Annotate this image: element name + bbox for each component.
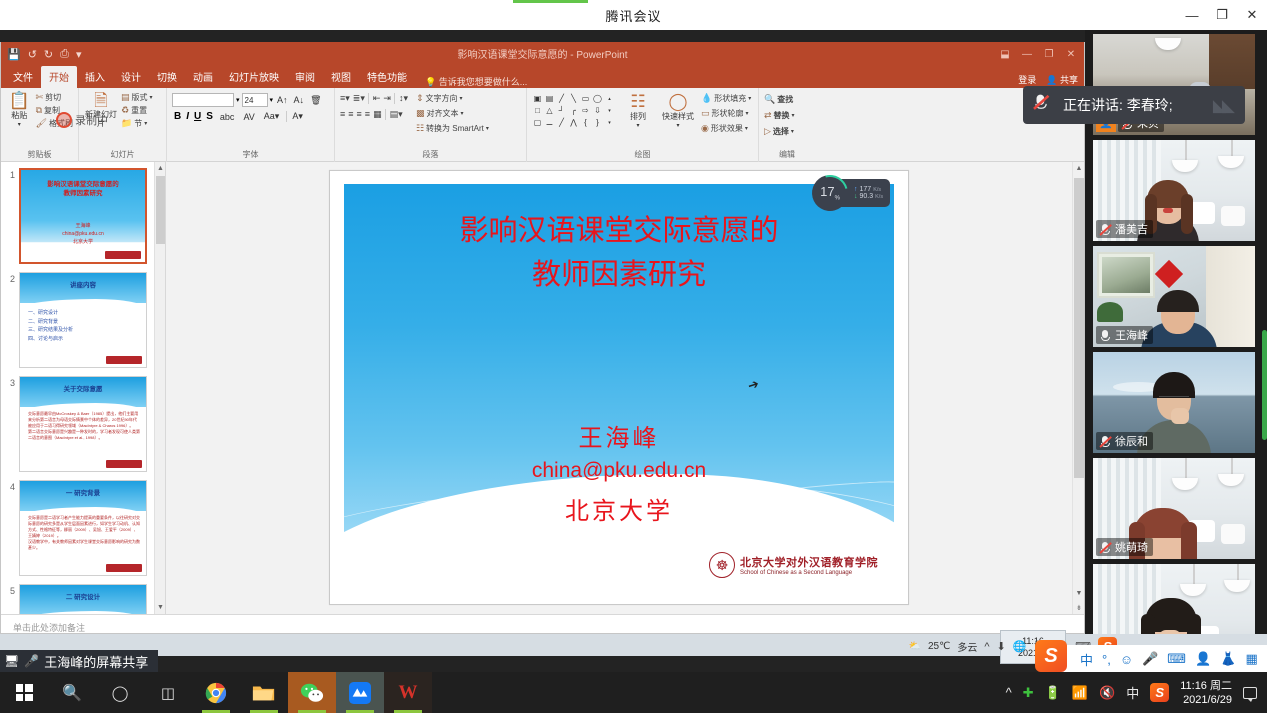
thumbnail-scrollbar[interactable]: ▲ ▼: [154, 162, 165, 614]
slide-thumbnail-2[interactable]: 2 讲座内容 一、研究设计 二、研究背景 三、研究结果及分析 四、讨论与启示: [5, 272, 165, 368]
download-speed: 90.3: [860, 193, 874, 200]
mic-muted-icon: [1033, 93, 1054, 116]
participant-name-row: 王海峰: [1096, 326, 1153, 344]
tencent-meeting-icon: [349, 682, 371, 704]
recording-badge: 录制中: [56, 112, 108, 128]
thumbnail-scroll-down-icon[interactable]: ▼: [155, 601, 166, 614]
slide-number: 4: [5, 480, 15, 492]
shape-fill-button[interactable]: 💧形状填充▾: [701, 93, 751, 104]
participant-video-panel: 👤 朱贝: [1085, 30, 1267, 660]
taskbar-tray: ^ ✚ 🔋 📶 🔇 中 S 11:16 周二 2021/6/29: [1006, 679, 1267, 707]
slide-number: 1: [5, 168, 15, 180]
wifi-icon[interactable]: 📶: [1072, 685, 1088, 701]
tab-review[interactable]: 审阅: [287, 66, 323, 88]
thumb-bullets: 一、研究设计 二、研究背景 三、研究结果及分析 四、讨论与启示: [28, 309, 140, 343]
convert-smartart-button[interactable]: ☷转换为 SmartArt▾: [416, 123, 489, 134]
lightbulb-icon: 💡: [425, 77, 436, 87]
slide-title-line1: 影响汉语课堂交际意愿的: [344, 208, 894, 252]
download-arrow-icon: ↓: [854, 193, 858, 200]
chinese-mode-icon[interactable]: 中: [1080, 650, 1093, 669]
weather-icon: ⛅: [909, 641, 921, 652]
thumb-logo-icon: [106, 356, 142, 364]
share-button[interactable]: 👤 共享: [1046, 73, 1078, 86]
select-icon: ▷: [764, 126, 771, 137]
slide-thumbnail-3[interactable]: 3 关于交际意愿 交际意愿最早由McCroskey & Baer（1985）提出…: [5, 376, 165, 472]
tab-transitions[interactable]: 切换: [149, 66, 185, 88]
chevron-up-icon[interactable]: ^: [984, 641, 989, 653]
slide-author[interactable]: 王海峰: [344, 420, 894, 456]
ime-chinese-icon[interactable]: 中: [1126, 683, 1139, 702]
record-icon: [56, 112, 72, 128]
align-text-button[interactable]: ▩对齐文本▾: [416, 108, 489, 119]
italic-button[interactable]: I: [186, 111, 189, 122]
share-label: 王海峰的屏幕共享: [44, 652, 148, 671]
speaking-label: 正在讲话: 李春玲;: [1063, 95, 1173, 115]
find-button[interactable]: 🔍查找: [764, 94, 810, 105]
taskbar-tencent-meeting[interactable]: [336, 672, 384, 713]
video-tile-2[interactable]: 王海峰: [1093, 246, 1255, 347]
slide-scroll-down-icon[interactable]: ▼: [1073, 587, 1085, 600]
shape-square-icon[interactable]: □: [532, 105, 543, 116]
microphone-icon: 🎤: [24, 654, 39, 668]
thumb-title: 讲座内容: [20, 281, 146, 290]
paste-button[interactable]: 📋 粘贴 ▾: [6, 92, 33, 128]
bullets-icon[interactable]: ≡▾: [340, 93, 350, 104]
speaking-banner: 正在讲话: 李春玲; ◣◣: [1023, 86, 1245, 124]
meeting-app-title: 腾讯会议: [605, 6, 661, 25]
shape-effects-button[interactable]: ◉形状效果▾: [701, 123, 751, 134]
video-panel-scrollbar[interactable]: [1262, 330, 1267, 440]
tencent-meeting-logo-icon: ◣◣: [1213, 96, 1231, 116]
slide-thumbnail-1[interactable]: 1 影响汉语课堂交际意愿的 教师因素研究 王海峰 china@pku.edu.c…: [5, 168, 165, 264]
participant-name: 姚萌琦: [1115, 539, 1148, 555]
paste-icon: 📋: [9, 92, 30, 110]
font-name-input[interactable]: [172, 93, 234, 107]
screen-share-bar: 🖥 🎤 王海峰的屏幕共享: [0, 650, 158, 672]
slide-logo: ☸ 北京大学对外汉语教育学院 School of Chinese as a Se…: [709, 552, 878, 578]
ribbon-group-drawing: ▣ ▤ ╱ ╲ ▭ ◯ ▴ □ △ ┘ ╭ ⇨ ⇩ ▾ ▢: [527, 88, 759, 162]
wps-icon: W: [399, 682, 418, 704]
group-label-paragraph: 段落: [340, 149, 521, 162]
next-slide-icon[interactable]: ⇟: [1073, 601, 1085, 614]
sogou-icon[interactable]: S: [1150, 683, 1169, 702]
tab-insert[interactable]: 插入: [77, 66, 113, 88]
ribbon-group-paragraph: ≡▾ ≣▾ ⇤ ⇥ ↕▾ ≡ ≡ ≡ ≡ ▦ ▤▾: [335, 88, 527, 162]
meeting-titlebar: 腾讯会议 — ❐ ✕: [0, 0, 1267, 30]
battery-icon[interactable]: 🔋: [1045, 685, 1061, 701]
bold-button[interactable]: B: [174, 111, 181, 122]
thumb-subtitle: 王海峰 china@pku.edu.cn 北京大学: [21, 222, 145, 246]
line-spacing-icon[interactable]: ↕▾: [394, 93, 408, 104]
tab-featured[interactable]: 特色功能: [359, 66, 415, 88]
participant-name: 王海峰: [1115, 327, 1148, 343]
video-tile-3[interactable]: 徐辰和: [1093, 352, 1255, 453]
cortana-button[interactable]: ◯: [96, 672, 144, 713]
security-icon[interactable]: ✚: [1023, 685, 1034, 701]
slide-number: 2: [5, 272, 15, 284]
shapes-more-icon[interactable]: ▾: [604, 117, 615, 128]
volume-muted-icon[interactable]: 🔇: [1099, 685, 1115, 701]
thumbnail-scroll-up-icon[interactable]: ▲: [155, 162, 166, 175]
tell-me-box[interactable]: 💡 告诉我您想要做什么...: [415, 75, 527, 88]
upload-arrow-icon: ↑: [854, 186, 858, 193]
new-slide-icon: 🗎: [94, 92, 108, 110]
notes-pane[interactable]: 单击此处添加备注: [1, 614, 1084, 634]
thumb-title: 一 研究背景: [20, 489, 146, 498]
ppt-restore-button[interactable]: ❐: [1038, 49, 1060, 60]
underline-button[interactable]: U: [194, 111, 201, 122]
thumb-bullets: 交际意愿是二语学习者产生能力提高的重要条件，以往研究对交际意愿的研究多是从学生层…: [28, 515, 140, 551]
start-button[interactable]: [0, 672, 48, 713]
download-icon[interactable]: ⬇: [997, 640, 1006, 653]
align-center-icon[interactable]: ≡: [348, 109, 353, 120]
cut-button[interactable]: ✄剪切: [36, 92, 73, 103]
taskbar-file-explorer[interactable]: [240, 672, 288, 713]
shapes-scroll-up-icon[interactable]: ▴: [604, 93, 615, 104]
group-label-clipboard: 剪贴板: [6, 149, 73, 162]
thumbnail-scroll-thumb[interactable]: [156, 176, 165, 244]
chevron-up-icon[interactable]: ^: [1006, 685, 1012, 700]
task-view-button[interactable]: ◫: [144, 672, 192, 713]
shape-flag-icon[interactable]: ⚊: [544, 117, 555, 128]
notification-icon[interactable]: [1243, 687, 1257, 699]
reset-button[interactable]: ♻重置: [121, 105, 153, 116]
participant-name: 徐辰和: [1115, 433, 1148, 449]
sogou-ime-logo-icon[interactable]: S: [1035, 640, 1067, 672]
search-icon: 🔍: [764, 94, 775, 105]
chrome-icon: [205, 682, 227, 704]
numbering-icon[interactable]: ≣▾: [353, 93, 365, 104]
tab-file[interactable]: 文件: [5, 66, 41, 88]
account-area: 登录 👤 共享: [1018, 73, 1078, 86]
slide-number: 3: [5, 376, 15, 388]
shape-line-icon[interactable]: ╱: [556, 93, 567, 104]
ribbon-group-font: ▾ 24 ▾ A↑ A↓ 🗑 B I U S abc AV Aa▾: [167, 88, 335, 162]
shape-arrow-down-icon[interactable]: ⇩: [592, 105, 603, 116]
ppt-minimize-button[interactable]: —: [1016, 49, 1038, 60]
shape-textbox2-icon[interactable]: ▤: [544, 93, 555, 104]
logo-text-en: School of Chinese as a Second Language: [740, 570, 878, 576]
mouse-cursor: ➔: [746, 376, 761, 395]
ppt-window-controls: ⬓ — ❐ ✕: [994, 42, 1082, 66]
thumb-title: 二 研究设计: [20, 593, 146, 602]
section-button[interactable]: 📁节▾: [121, 118, 153, 129]
ppt-document-title: 影响汉语课堂交际意愿的 - PowerPoint: [1, 46, 1084, 61]
thumb-title: 影响汉语课堂交际意愿的 教师因素研究: [21, 180, 145, 198]
character-spacing-button[interactable]: AV: [241, 112, 256, 122]
taskbar-clock[interactable]: 11:16 周二 2021/6/29: [1180, 679, 1232, 707]
layout-button[interactable]: ▤版式▾: [121, 92, 153, 103]
tab-slideshow[interactable]: 幻灯片放映: [221, 66, 287, 88]
slide-canvas[interactable]: 影响汉语课堂交际意愿的 教师因素研究 王海峰 china@pku.edu.cn …: [344, 184, 894, 588]
slide-editing-stage: 影响汉语课堂交际意愿的 教师因素研究 王海峰 china@pku.edu.cn …: [166, 162, 1072, 614]
copy-icon: ⧉: [36, 105, 42, 116]
monitor-icon: 🖥: [4, 654, 19, 668]
strikethrough-button[interactable]: abc: [218, 112, 237, 122]
align-text-icon: ▩: [416, 108, 425, 119]
paste-dropdown-icon[interactable]: ▾: [18, 121, 21, 128]
sogou-ime-toolbar: 中 °, ☺ 🎤 ⌨ 👤 👗 ▦: [1040, 645, 1267, 673]
group-label-editing: 编辑: [764, 149, 810, 162]
decrease-font-size-icon[interactable]: A↓: [292, 95, 307, 105]
slide-thumbnail-5[interactable]: 5 二 研究设计: [5, 584, 165, 614]
meeting-close-button[interactable]: ✕: [1237, 0, 1267, 30]
ribbon-group-editing: 🔍查找 ⇄替换▾ ▷选择▾ 编辑: [759, 88, 815, 162]
select-button[interactable]: ▷选择▾: [764, 126, 810, 137]
smartart-icon: ☷: [416, 123, 424, 134]
participant-name-row: 徐辰和: [1096, 432, 1153, 450]
arrange-button[interactable]: ☷ 排列 ▾: [621, 93, 655, 129]
net-percent-unit: %: [835, 196, 840, 202]
shapes-scroll-down-icon[interactable]: ▾: [604, 105, 615, 116]
shape-outline-icon: ▭: [701, 108, 710, 119]
user-icon[interactable]: 👤: [1195, 651, 1211, 667]
text-columns-icon[interactable]: ▤▾: [385, 109, 403, 120]
shapes-gallery[interactable]: ▣ ▤ ╱ ╲ ▭ ◯ ▴ □ △ ┘ ╭ ⇨ ⇩ ▾ ▢: [532, 93, 615, 128]
tab-design[interactable]: 设计: [113, 66, 149, 88]
mic-muted-icon: [1099, 435, 1111, 448]
sign-in-button[interactable]: 登录: [1018, 73, 1036, 86]
video-tile-4[interactable]: 姚萌琦: [1093, 458, 1255, 559]
ribbon: 📋 粘贴 ▾ ✄剪切 ⧉复制 🖌格式刷 剪贴板 🗎 新建: [1, 88, 1084, 162]
thumb-logo-icon: [105, 251, 141, 259]
quick-styles-icon: ◯: [668, 93, 687, 111]
decrease-indent-icon[interactable]: ⇤: [368, 93, 381, 104]
font-color-button[interactable]: A▾: [286, 111, 305, 122]
format-painter-icon: 🖌: [36, 118, 47, 129]
weather-desc: 多云: [957, 639, 977, 654]
shape-triangle-icon[interactable]: △: [544, 105, 555, 116]
shape-angle-icon[interactable]: ⋀: [568, 117, 579, 128]
soft-keyboard-icon[interactable]: ⌨: [1167, 651, 1186, 667]
logo-text-cn: 北京大学对外汉语教育学院: [740, 554, 878, 570]
ribbon-tab-row: 文件 开始 插入 设计 切换 动画 幻灯片放映 审阅 视图 特色功能 💡 告诉我…: [1, 66, 1084, 88]
punctuation-icon[interactable]: °,: [1102, 652, 1111, 667]
video-tile-1[interactable]: 潘美吉: [1093, 140, 1255, 241]
microphone-icon: [1099, 329, 1111, 342]
taskbar-wechat[interactable]: [288, 672, 336, 713]
layout-icon: ▤: [121, 92, 130, 103]
paste-label: 粘贴: [11, 110, 27, 121]
net-percent: 17: [820, 184, 834, 199]
mic-muted-icon: [1099, 541, 1111, 554]
slide-scroll-up-icon[interactable]: ▲: [1073, 162, 1085, 175]
emoji-icon[interactable]: ☺: [1120, 652, 1133, 667]
columns-icon[interactable]: ▦: [373, 109, 382, 120]
meeting-maximize-button[interactable]: ❐: [1207, 0, 1237, 30]
shape-brace-left-icon[interactable]: {: [580, 117, 591, 128]
replace-button[interactable]: ⇄替换▾: [764, 110, 810, 121]
increase-indent-icon[interactable]: ⇥: [383, 93, 391, 104]
recording-label: 录制中: [75, 112, 108, 128]
justify-icon[interactable]: ≡: [365, 109, 370, 120]
shape-outline-button[interactable]: ▭形状轮廓▾: [701, 108, 751, 119]
meeting-tab-indicator: [513, 0, 588, 3]
slide-university[interactable]: 北京大学: [344, 491, 894, 526]
weather-temp: 25℃: [928, 641, 950, 652]
file-explorer-icon: [252, 683, 276, 703]
clock-time: 11:16 周二: [1180, 679, 1232, 693]
shape-curve-icon[interactable]: ╱: [556, 117, 567, 128]
tab-view[interactable]: 视图: [323, 66, 359, 88]
shape-effects-icon: ◉: [701, 123, 709, 134]
participant-name-row: 姚萌琦: [1096, 538, 1153, 556]
toolbox-icon[interactable]: ▦: [1245, 651, 1257, 667]
taskbar-wps[interactable]: W: [384, 672, 432, 713]
powerpoint-window: 💾 ↺ ↻ ⎙ ▾ 影响汉语课堂交际意愿的 - PowerPoint ⬓ — ❐…: [0, 42, 1085, 634]
align-left-icon[interactable]: ≡: [340, 109, 345, 120]
shape-round-rect-icon[interactable]: ▢: [532, 117, 543, 128]
group-label-font: 字体: [172, 149, 329, 162]
windows-taskbar: 🔍 ◯ ◫: [0, 672, 1267, 713]
taskbar-search-button[interactable]: 🔍: [48, 672, 96, 713]
shape-fill-icon: 💧: [701, 93, 712, 104]
text-direction-icon: ⇕: [416, 93, 424, 104]
slide-number: 5: [5, 584, 15, 596]
wechat-icon: [300, 682, 324, 704]
tab-animations[interactable]: 动画: [185, 66, 221, 88]
thumb-bullets: 交际意愿最早由McCroskey & Baer（1985）提出，他们主要用来分析…: [28, 411, 140, 441]
slide-vertical-scrollbar[interactable]: ▲ ▼ ⇟: [1072, 162, 1084, 614]
reset-icon: ♻: [121, 105, 129, 116]
scissors-icon: ✄: [36, 92, 44, 103]
shape-bracket-icon[interactable]: ╭: [568, 105, 579, 116]
slide-thumbnail-pane: 1 影响汉语课堂交际意愿的 教师因素研究 王海峰 china@pku.edu.c…: [1, 162, 166, 614]
network-speed-widget[interactable]: 17% ↑177K/s ↓90.3K/s: [812, 175, 890, 211]
upload-speed: 177: [860, 186, 872, 193]
shape-textbox-icon[interactable]: ▣: [532, 93, 543, 104]
thumb-title: 关于交际意愿: [20, 385, 146, 394]
participant-name: 潘美吉: [1115, 221, 1148, 237]
ppt-close-button[interactable]: ✕: [1060, 49, 1082, 60]
section-icon: 📁: [121, 118, 132, 129]
download-unit: K/s: [875, 194, 883, 200]
font-size-input[interactable]: 24: [242, 93, 268, 107]
ppt-titlebar: 💾 ↺ ↻ ⎙ ▾ 影响汉语课堂交际意愿的 - PowerPoint ⬓ — ❐…: [1, 42, 1084, 66]
meeting-window-controls: — ❐ ✕: [1177, 0, 1267, 30]
slide-title-line2: 教师因素研究: [344, 252, 894, 296]
arrange-icon: ☷: [630, 93, 645, 111]
shape-arrow-icon[interactable]: ╲: [568, 93, 579, 104]
tell-me-label: 告诉我您想要做什么...: [439, 77, 528, 87]
notes-placeholder: 单击此处添加备注: [13, 621, 85, 634]
tab-home[interactable]: 开始: [41, 66, 77, 88]
pku-seal-icon: ☸: [709, 552, 735, 578]
shape-brace-right-icon[interactable]: }: [592, 117, 603, 128]
text-direction-button[interactable]: ⇕文字方向▾: [416, 93, 489, 104]
upload-unit: K/s: [873, 187, 881, 193]
cpu-usage-ring: 17%: [805, 168, 854, 217]
quick-styles-button[interactable]: ◯ 快速样式 ▾: [661, 93, 695, 129]
meeting-minimize-button[interactable]: —: [1177, 0, 1207, 30]
voice-input-icon[interactable]: 🎤: [1142, 651, 1158, 667]
cloud-sync-icon[interactable]: 🌐: [1013, 640, 1027, 653]
group-label-slides: 幻灯片: [84, 149, 161, 162]
shape-corner-icon[interactable]: ┘: [556, 105, 567, 116]
thumb-logo-icon: [106, 564, 142, 572]
current-slide[interactable]: 影响汉语课堂交际意愿的 教师因素研究 王海峰 china@pku.edu.cn …: [329, 170, 909, 605]
taskbar-chrome[interactable]: [192, 672, 240, 713]
shadow-button[interactable]: S: [206, 111, 213, 122]
group-label-drawing: 绘图: [532, 149, 753, 162]
thumb-logo-icon: [106, 460, 142, 468]
slide-thumbnail-4[interactable]: 4 一 研究背景 交际意愿是二语学习者产生能力提高的重要条件，以往研究对交际意愿…: [5, 480, 165, 576]
mic-muted-icon: [1099, 223, 1111, 236]
task-view-icon: ◫: [161, 684, 175, 702]
ribbon-display-options-icon[interactable]: ⬓: [994, 49, 1016, 60]
shape-rect-icon[interactable]: ▭: [580, 93, 591, 104]
participant-name-row: 潘美吉: [1096, 220, 1153, 238]
shape-oval-icon[interactable]: ◯: [592, 93, 603, 104]
clear-formatting-icon[interactable]: 🗑: [308, 95, 323, 106]
search-icon: 🔍: [62, 683, 82, 703]
slide-email[interactable]: china@pku.edu.cn: [344, 459, 894, 483]
start-icon: [16, 684, 33, 701]
slide-scroll-thumb[interactable]: [1074, 178, 1084, 478]
change-case-button[interactable]: Aa▾: [262, 111, 282, 122]
increase-font-size-icon[interactable]: A↑: [275, 95, 290, 105]
skin-icon[interactable]: 👗: [1220, 651, 1236, 667]
ppt-body: 1 影响汉语课堂交际意愿的 教师因素研究 王海峰 china@pku.edu.c…: [1, 162, 1084, 614]
cortana-icon: ◯: [112, 684, 129, 702]
clock-date: 2021/6/29: [1180, 693, 1232, 707]
shape-arrow-right-icon[interactable]: ⇨: [580, 105, 591, 116]
align-right-icon[interactable]: ≡: [357, 109, 362, 120]
slide-title[interactable]: 影响汉语课堂交际意愿的 教师因素研究: [344, 208, 894, 296]
replace-icon: ⇄: [764, 110, 772, 121]
